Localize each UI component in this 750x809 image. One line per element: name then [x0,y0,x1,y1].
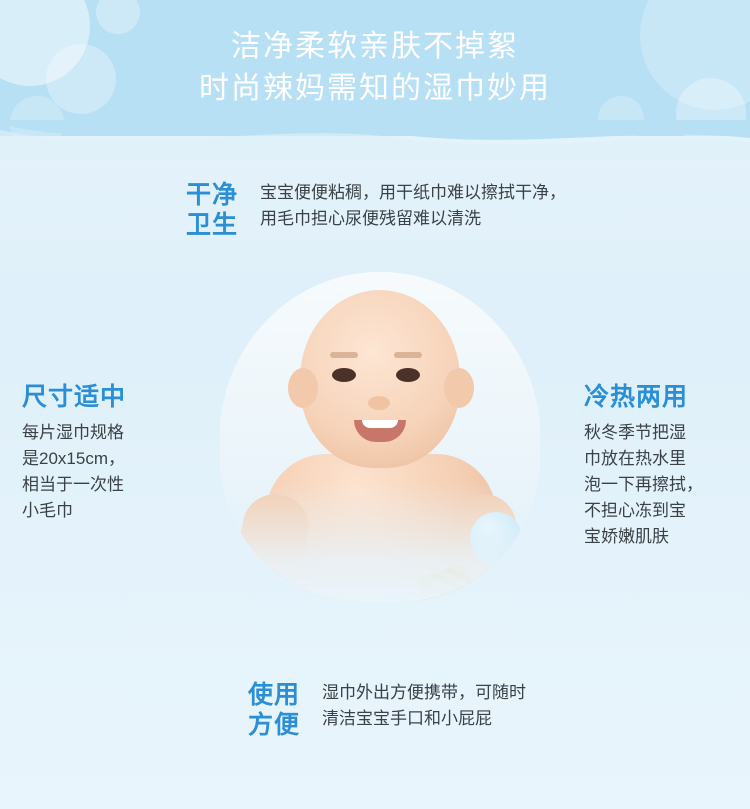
feature-block-size: 尺寸适中 每片湿巾规格 是20x15cm， 相当于一次性 小毛巾 [22,382,202,524]
baby-eye-left-shape [332,368,356,382]
feature-body-temperature: 秋冬季节把湿 巾放在热水里 泡一下再擦拭， 不担心冻到宝 宝娇嫩肌肤 [584,420,744,550]
baby-brow-left-shape [330,352,358,358]
baby-ear-right-shape [444,368,474,408]
baby-photo-circle [220,272,540,602]
header-title-line-2: 时尚辣妈需知的湿巾妙用 [0,68,750,110]
feature-title-temperature: 冷热两用 [584,382,744,412]
feature-block-hygiene: 干净 卫生 宝宝便便粘稠，用干纸巾难以擦拭干净， 用毛巾担心尿便残留难以清洗 [186,180,666,240]
header-title-line-1: 洁净柔软亲肤不掉絮 [0,26,750,68]
photo-fade-overlay [220,482,540,602]
baby-nose-shape [368,396,390,410]
baby-brow-right-shape [394,352,422,358]
feature-block-temperature: 冷热两用 秋冬季节把湿 巾放在热水里 泡一下再擦拭， 不担心冻到宝 宝娇嫩肌肤 [584,382,744,550]
feature-block-convenience: 使用 方便 湿巾外出方便携带，可随时 清洁宝宝手口和小屁屁 [248,680,708,740]
header-title: 洁净柔软亲肤不掉絮 时尚辣妈需知的湿巾妙用 [0,26,750,110]
feature-title-hygiene: 干净 卫生 [186,180,250,240]
feature-title-size: 尺寸适中 [22,382,202,412]
baby-ear-left-shape [288,368,318,408]
baby-photo [220,272,540,672]
baby-eye-right-shape [396,368,420,382]
feature-body-convenience: 湿巾外出方便携带，可随时 清洁宝宝手口和小屁屁 [322,680,526,732]
feature-body-size: 每片湿巾规格 是20x15cm， 相当于一次性 小毛巾 [22,420,202,524]
feature-title-convenience: 使用 方便 [248,680,312,740]
product-detail-page: 洁净柔软亲肤不掉絮 时尚辣妈需知的湿巾妙用 干净 卫生 宝宝便便粘稠，用干纸巾难… [0,0,750,809]
wave-divider [0,120,750,160]
header-banner: 洁净柔软亲肤不掉絮 时尚辣妈需知的湿巾妙用 [0,0,750,136]
feature-body-hygiene: 宝宝便便粘稠，用干纸巾难以擦拭干净， 用毛巾担心尿便残留难以清洗 [260,180,566,232]
